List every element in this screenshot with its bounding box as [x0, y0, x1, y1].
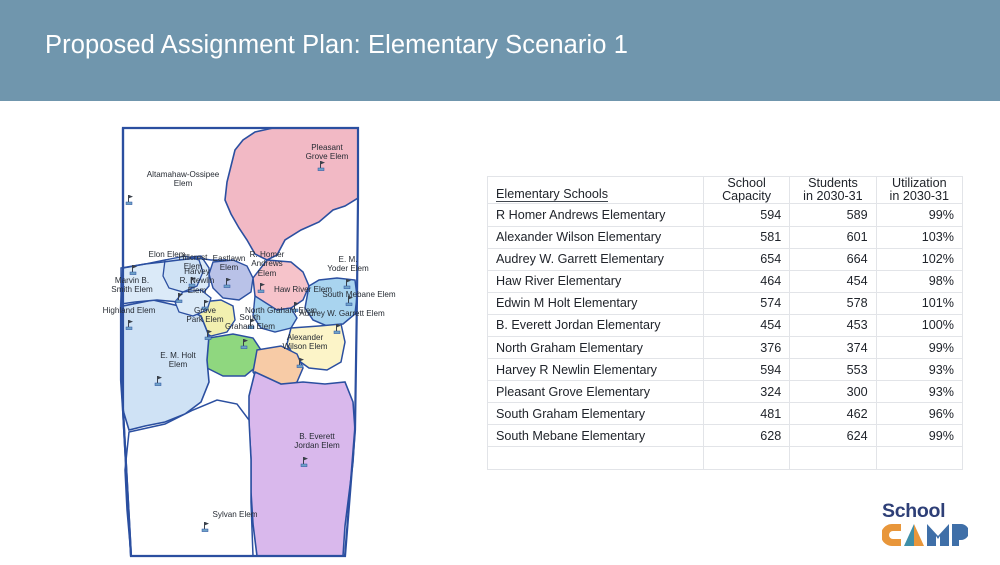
logo-letter-c	[882, 524, 901, 546]
cell-utilization: 96%	[876, 403, 962, 425]
cell-capacity: 594	[703, 204, 789, 226]
table-row: South Mebane Elementary62862499%	[488, 425, 963, 447]
cell-capacity: 324	[703, 381, 789, 403]
school-flag-marker-icon	[333, 321, 342, 332]
cell-students: 300	[790, 381, 876, 403]
cell-utilization: 98%	[876, 270, 962, 292]
cell-capacity: 594	[703, 359, 789, 381]
table-row: Audrey W. Garrett Elementary654664102%	[488, 248, 963, 270]
cell-students: 589	[790, 204, 876, 226]
table-header: Elementary Schools School Capacity Stude…	[488, 177, 963, 204]
school-flag-marker-icon	[257, 280, 266, 291]
table-row: Harvey R Newlin Elementary59455393%	[488, 359, 963, 381]
cell-capacity: 376	[703, 337, 789, 359]
cell-utilization: 93%	[876, 381, 962, 403]
cell-utilization: 100%	[876, 314, 962, 336]
logo-word-camp	[882, 522, 968, 548]
utilization-table: Elementary Schools School Capacity Stude…	[487, 176, 963, 470]
cell-name: Harvey R Newlin Elementary	[488, 359, 704, 381]
table-row: B. Everett Jordan Elementary454453100%	[488, 314, 963, 336]
cell-blank	[876, 447, 962, 469]
cell-capacity: 574	[703, 292, 789, 314]
logo-letter-p	[952, 524, 968, 546]
table-row: Edwin M Holt Elementary574578101%	[488, 292, 963, 314]
column-header-school-name: Elementary Schools	[488, 177, 704, 204]
map-graphic	[105, 110, 415, 565]
cell-capacity: 464	[703, 270, 789, 292]
cell-name: South Graham Elementary	[488, 403, 704, 425]
cell-name: Haw River Elementary	[488, 270, 704, 292]
column-header-capacity: School Capacity	[703, 177, 789, 204]
cell-students: 578	[790, 292, 876, 314]
school-flag-marker-icon	[223, 275, 232, 286]
school-flag-marker-icon	[300, 454, 309, 465]
cell-blank	[790, 447, 876, 469]
table-row: Pleasant Grove Elementary32430093%	[488, 381, 963, 403]
school-flag-marker-icon	[175, 290, 184, 301]
logo-letter-a-left	[904, 524, 914, 546]
table-row: R Homer Andrews Elementary59458999%	[488, 204, 963, 226]
column-header-school-name-label: Elementary Schools	[496, 188, 608, 202]
table-header-row: Elementary Schools School Capacity Stude…	[488, 177, 963, 204]
cell-capacity: 454	[703, 314, 789, 336]
cell-name: South Mebane Elementary	[488, 425, 704, 447]
column-header-utilization-line2: in 2030-31	[885, 190, 954, 203]
logo-word-school: School	[882, 501, 970, 521]
assignment-zone-map: PleasantGrove ElemAltamahaw-OssipeeElemE…	[105, 110, 415, 565]
table-row: Haw River Elementary46445498%	[488, 270, 963, 292]
cell-name: Audrey W. Garrett Elementary	[488, 248, 704, 270]
cell-blank	[703, 447, 789, 469]
cell-students: 553	[790, 359, 876, 381]
cell-utilization: 99%	[876, 425, 962, 447]
cell-name: Pleasant Grove Elementary	[488, 381, 704, 403]
school-flag-marker-icon	[240, 336, 249, 347]
cell-capacity: 581	[703, 226, 789, 248]
cell-name: Alexander Wilson Elementary	[488, 226, 704, 248]
table-row-blank	[488, 447, 963, 469]
cell-capacity: 481	[703, 403, 789, 425]
school-flag-marker-icon	[291, 299, 300, 310]
table-row: Alexander Wilson Elementary581601103%	[488, 226, 963, 248]
cell-name: North Graham Elementary	[488, 337, 704, 359]
cell-utilization: 99%	[876, 204, 962, 226]
zone-south-graham	[201, 334, 261, 376]
cell-students: 454	[790, 270, 876, 292]
column-header-utilization: Utilization in 2030-31	[876, 177, 962, 204]
school-flag-marker-icon	[201, 519, 210, 530]
school-flag-marker-icon	[188, 274, 197, 285]
cell-students: 462	[790, 403, 876, 425]
cell-utilization: 99%	[876, 337, 962, 359]
column-header-students-line2: in 2030-31	[798, 190, 867, 203]
cell-utilization: 103%	[876, 226, 962, 248]
cell-capacity: 654	[703, 248, 789, 270]
logo-letter-m	[927, 524, 949, 546]
school-flag-marker-icon	[343, 276, 352, 287]
cell-name: Edwin M Holt Elementary	[488, 292, 704, 314]
table-row: North Graham Elementary37637499%	[488, 337, 963, 359]
column-header-students: Students in 2030-31	[790, 177, 876, 204]
school-flag-marker-icon	[154, 373, 163, 384]
table-body: R Homer Andrews Elementary59458999%Alexa…	[488, 204, 963, 469]
table-row: South Graham Elementary48146296%	[488, 403, 963, 425]
cell-students: 664	[790, 248, 876, 270]
school-flag-marker-icon	[317, 158, 326, 169]
cell-blank	[488, 447, 704, 469]
school-flag-marker-icon	[296, 355, 305, 366]
schoolcamp-logo: School	[882, 501, 970, 553]
school-flag-marker-icon	[125, 192, 134, 203]
logo-letter-a-right	[914, 524, 924, 546]
page-title: Proposed Assignment Plan: Elementary Sce…	[45, 31, 628, 60]
cell-name: R Homer Andrews Elementary	[488, 204, 704, 226]
cell-students: 624	[790, 425, 876, 447]
cell-name: B. Everett Jordan Elementary	[488, 314, 704, 336]
cell-students: 601	[790, 226, 876, 248]
school-flag-marker-icon	[345, 293, 354, 304]
school-flag-marker-icon	[201, 297, 210, 308]
cell-capacity: 628	[703, 425, 789, 447]
school-flag-marker-icon	[204, 327, 213, 338]
school-flag-marker-icon	[247, 316, 256, 327]
cell-utilization: 93%	[876, 359, 962, 381]
cell-utilization: 101%	[876, 292, 962, 314]
school-flag-marker-icon	[125, 317, 134, 328]
zone-pleasant-grove	[225, 128, 358, 260]
school-flag-marker-icon	[129, 262, 138, 273]
cell-utilization: 102%	[876, 248, 962, 270]
cell-students: 374	[790, 337, 876, 359]
cell-students: 453	[790, 314, 876, 336]
column-header-capacity-line2: Capacity	[712, 190, 781, 203]
